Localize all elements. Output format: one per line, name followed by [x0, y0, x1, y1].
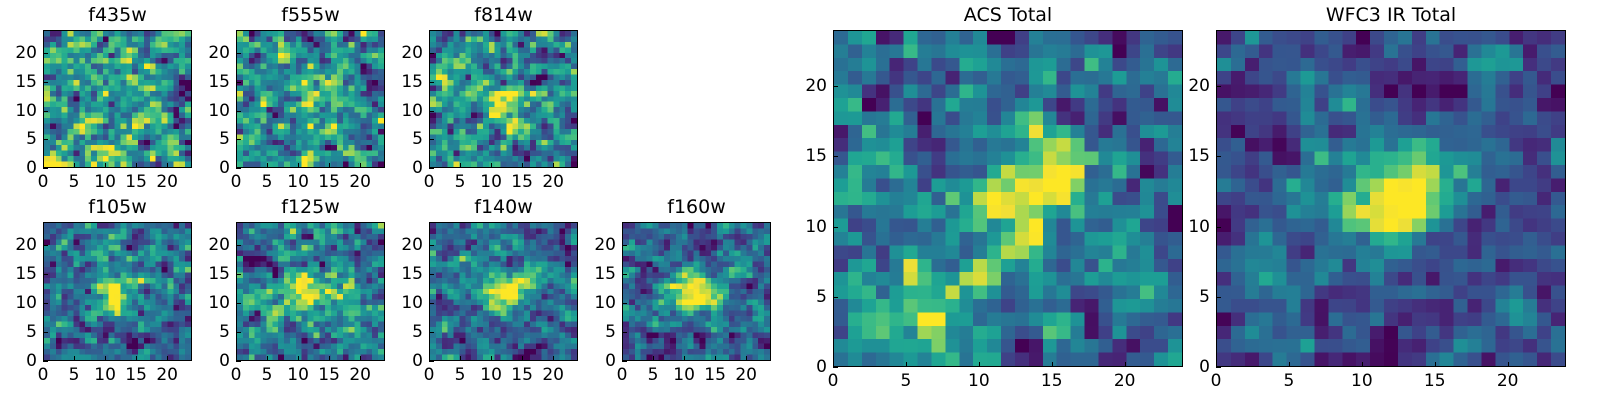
y-tick-label: 20: [190, 43, 230, 63]
y-tick-label: 0: [787, 357, 827, 377]
y-tickmark: [622, 303, 627, 304]
x-tickmark: [1508, 362, 1509, 367]
x-tickmark: [267, 356, 268, 361]
x-tick-label: 5: [648, 365, 659, 385]
x-tick-label: 20: [156, 365, 178, 385]
panel-f105w: f105w0055101015152020: [43, 0, 192, 400]
y-tickmark: [429, 361, 434, 362]
x-tickmark: [1289, 362, 1290, 367]
y-tick-label: 20: [383, 43, 423, 63]
y-tickmark: [236, 332, 241, 333]
y-tick-label: 15: [576, 264, 616, 284]
x-tick-label: 20: [1497, 371, 1519, 391]
y-tick-label: 5: [576, 322, 616, 342]
x-tick-label: 5: [455, 365, 466, 385]
heatmap-f140w: [429, 222, 578, 361]
x-tick-label: 10: [480, 365, 502, 385]
y-tick-label: 15: [1170, 146, 1210, 166]
panel-title-f140w: f140w: [429, 196, 578, 218]
panel-acs_total: ACS Total0055101015152020: [833, 0, 1183, 400]
y-tick-label: 5: [383, 129, 423, 149]
y-tickmark: [1216, 367, 1221, 368]
x-tickmark: [1435, 362, 1436, 367]
y-tick-label: 0: [576, 351, 616, 371]
panel-wfc3_ir_total: WFC3 IR Total0055101015152020: [1216, 0, 1566, 400]
y-tick-label: 15: [190, 264, 230, 284]
y-tickmark: [1216, 297, 1221, 298]
y-tick-label: 5: [0, 129, 37, 149]
y-tick-label: 20: [0, 43, 37, 63]
y-tick-label: 0: [383, 351, 423, 371]
x-tick-label: 5: [69, 365, 80, 385]
panel-f140w: f140w0055101015152020: [429, 0, 578, 400]
y-tick-label: 0: [383, 158, 423, 178]
x-tickmark: [1052, 362, 1053, 367]
x-tickmark: [167, 356, 168, 361]
y-tickmark: [236, 274, 241, 275]
y-tickmark: [43, 332, 48, 333]
y-tick-label: 5: [190, 129, 230, 149]
y-tick-label: 10: [787, 217, 827, 237]
y-tickmark: [622, 332, 627, 333]
y-tick-label: 15: [383, 264, 423, 284]
x-tickmark: [715, 356, 716, 361]
x-tickmark: [1125, 362, 1126, 367]
x-tick-label: 15: [704, 365, 726, 385]
y-tickmark: [833, 367, 838, 368]
y-tickmark: [1216, 227, 1221, 228]
panel-title-f125w: f125w: [236, 196, 385, 218]
y-tick-label: 10: [190, 293, 230, 313]
y-tick-label: 15: [190, 72, 230, 92]
y-tickmark: [1216, 86, 1221, 87]
x-tick-label: 10: [968, 371, 990, 391]
x-tickmark: [460, 356, 461, 361]
y-tick-label: 10: [190, 101, 230, 121]
heatmap-f125w: [236, 222, 385, 361]
x-tickmark: [906, 362, 907, 367]
x-tickmark: [298, 356, 299, 361]
y-tick-label: 0: [0, 158, 37, 178]
x-tick-label: 10: [287, 365, 309, 385]
x-tick-label: 5: [262, 365, 273, 385]
x-tickmark: [491, 356, 492, 361]
y-tickmark: [43, 303, 48, 304]
y-tickmark: [833, 227, 838, 228]
x-tick-label: 0: [231, 365, 242, 385]
y-tickmark: [236, 245, 241, 246]
y-tick-label: 10: [383, 101, 423, 121]
y-tick-label: 5: [383, 322, 423, 342]
x-tick-label: 15: [318, 365, 340, 385]
x-tick-label: 20: [542, 365, 564, 385]
heatmap-acs_total: [833, 30, 1183, 367]
panel-title-f105w: f105w: [43, 196, 192, 218]
y-tickmark: [429, 245, 434, 246]
panel-title-wfc3_ir_total: WFC3 IR Total: [1216, 4, 1566, 26]
y-tickmark: [833, 297, 838, 298]
x-tick-label: 0: [1211, 371, 1222, 391]
y-tickmark: [622, 361, 627, 362]
x-tick-label: 10: [673, 365, 695, 385]
x-tick-label: 20: [349, 365, 371, 385]
x-tickmark: [74, 356, 75, 361]
x-tick-label: 15: [1424, 371, 1446, 391]
y-tickmark: [429, 274, 434, 275]
x-tickmark: [684, 356, 685, 361]
x-tickmark: [653, 356, 654, 361]
x-tickmark: [136, 356, 137, 361]
x-tick-label: 15: [125, 365, 147, 385]
y-tick-label: 5: [787, 287, 827, 307]
x-tick-label: 0: [617, 365, 628, 385]
y-tick-label: 20: [383, 235, 423, 255]
x-tickmark: [1362, 362, 1363, 367]
x-tick-label: 0: [38, 365, 49, 385]
x-tickmark: [522, 356, 523, 361]
x-tickmark: [979, 362, 980, 367]
heatmap-f160w: [622, 222, 771, 361]
x-tick-label: 0: [828, 371, 839, 391]
y-tick-label: 0: [0, 351, 37, 371]
y-tick-label: 10: [0, 101, 37, 121]
y-tick-label: 5: [1170, 287, 1210, 307]
y-tickmark: [43, 274, 48, 275]
y-tick-label: 20: [0, 235, 37, 255]
y-tickmark: [833, 156, 838, 157]
y-tickmark: [236, 361, 241, 362]
y-tick-label: 10: [576, 293, 616, 313]
y-tick-label: 10: [1170, 217, 1210, 237]
heatmap-wfc3_ir_total: [1216, 30, 1566, 367]
y-tick-label: 5: [0, 322, 37, 342]
panel-title-acs_total: ACS Total: [833, 4, 1183, 26]
y-tick-label: 20: [190, 235, 230, 255]
y-tickmark: [1216, 156, 1221, 157]
x-tick-label: 5: [900, 371, 911, 391]
y-tick-label: 10: [0, 293, 37, 313]
x-tick-label: 10: [1351, 371, 1373, 391]
y-tick-label: 20: [576, 235, 616, 255]
x-tickmark: [553, 356, 554, 361]
y-tick-label: 0: [190, 158, 230, 178]
y-tickmark: [622, 245, 627, 246]
panel-f125w: f125w0055101015152020: [236, 0, 385, 400]
x-tick-label: 15: [1041, 371, 1063, 391]
panel-f160w: f160w0055101015152020: [622, 0, 771, 400]
y-tick-label: 15: [0, 72, 37, 92]
y-tick-label: 0: [190, 351, 230, 371]
x-tick-label: 5: [1283, 371, 1294, 391]
y-tickmark: [236, 303, 241, 304]
x-tick-label: 10: [94, 365, 116, 385]
heatmap-f105w: [43, 222, 192, 361]
y-tick-label: 0: [1170, 357, 1210, 377]
y-tickmark: [833, 86, 838, 87]
y-tick-label: 10: [383, 293, 423, 313]
x-tick-label: 20: [1114, 371, 1136, 391]
panel-title-f160w: f160w: [622, 196, 771, 218]
x-tick-label: 20: [735, 365, 757, 385]
x-tickmark: [329, 356, 330, 361]
x-tick-label: 15: [511, 365, 533, 385]
x-tickmark: [360, 356, 361, 361]
figure-canvas: f435w0055101015152020f555w00551010151520…: [0, 0, 1600, 400]
y-tickmark: [429, 332, 434, 333]
y-tick-label: 15: [0, 264, 37, 284]
y-tickmark: [43, 245, 48, 246]
y-tick-label: 20: [1170, 76, 1210, 96]
y-tickmark: [622, 274, 627, 275]
y-tick-label: 15: [787, 146, 827, 166]
x-tick-label: 0: [424, 365, 435, 385]
x-tickmark: [105, 356, 106, 361]
y-tickmark: [43, 361, 48, 362]
y-tickmark: [429, 303, 434, 304]
y-tick-label: 5: [190, 322, 230, 342]
y-tick-label: 15: [383, 72, 423, 92]
x-tickmark: [746, 356, 747, 361]
y-tick-label: 20: [787, 76, 827, 96]
